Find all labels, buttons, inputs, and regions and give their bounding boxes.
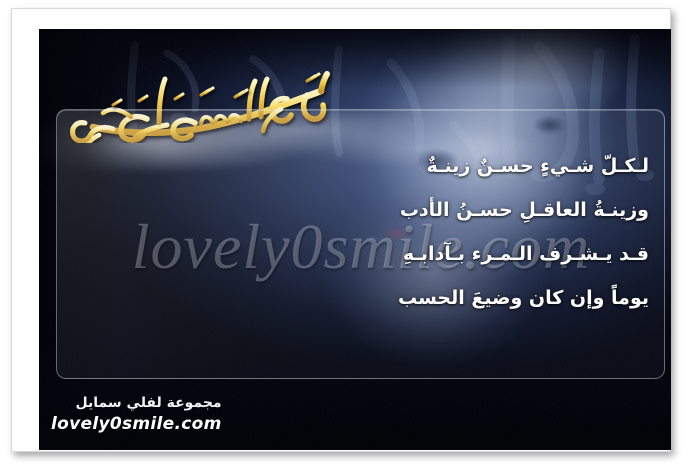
- footer-credit: مجموعة لفلي سمايل lovely0smile.com: [51, 395, 222, 434]
- outer-white-frame: إن من الشعر لحكمة lovely0smile.com لـكـل…: [11, 8, 671, 452]
- poem-line-1: لـكـلّ شـيءٍ حسـنٌ زينـةٌ: [79, 157, 649, 176]
- footer-site-url[interactable]: lovely0smile.com: [51, 414, 222, 434]
- poster-card: إن من الشعر لحكمة lovely0smile.com لـكـل…: [39, 29, 671, 450]
- poem-line-2: وزينـةُ العاقـلِ حسـنُ الأدب: [79, 201, 649, 220]
- poem-line-3: قـد يـشـرف الـمـرء بـآدابـهِ: [79, 245, 649, 264]
- poster-root: إن من الشعر لحكمة lovely0smile.com لـكـل…: [0, 0, 692, 470]
- poem-block: لـكـلّ شـيءٍ حسـنٌ زينـةٌ وزينـةُ العاقـ…: [79, 157, 649, 308]
- footer-arabic-label: مجموعة لفلي سمايل: [51, 395, 222, 413]
- poem-line-4: يوماً وإن كان وضيعَ الحسب: [79, 289, 649, 308]
